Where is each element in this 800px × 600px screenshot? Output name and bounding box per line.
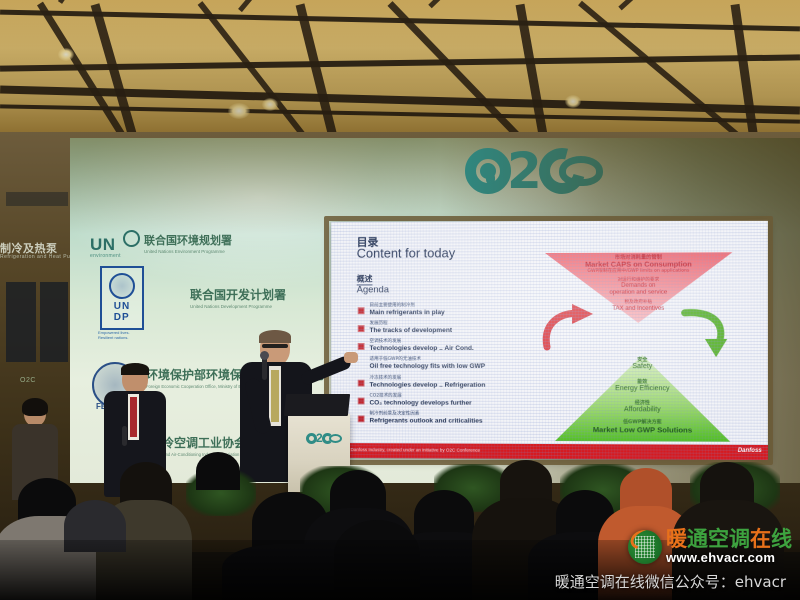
bullet-square-icon — [358, 398, 365, 405]
undp-p: P — [122, 312, 130, 323]
wm-char: 通 — [687, 527, 708, 551]
laptop — [284, 394, 350, 416]
agenda-en: CO₂ technology develops further — [369, 399, 471, 407]
undp-cn-name: 联合国开发计划署 United Nations Development Prog… — [190, 286, 286, 309]
arrow-up-red — [539, 303, 599, 356]
agenda-item: 制冷剂前景及决定性因素 Refrigerants outlook and cri… — [358, 411, 483, 425]
arrow-down-green — [675, 307, 734, 364]
microphone — [122, 426, 127, 446]
undp-seal-icon — [109, 273, 135, 299]
agenda-en: Oil free technology fits with low GWP — [369, 362, 485, 370]
agenda-en: Technologies develop .. Air Cond. — [369, 345, 473, 353]
agenda-item: CO2技术的发展 CO₂ technology develops further — [358, 394, 472, 408]
un-sub: environment — [90, 253, 140, 259]
wm-char: 暖 — [666, 527, 687, 551]
undp-tagline: Empowered lives. Resilient nations. — [98, 330, 146, 340]
bullet-square-icon — [358, 343, 365, 350]
wm-char: 线 — [771, 527, 792, 551]
bullet-square-icon — [358, 415, 365, 422]
wm-char: 在 — [750, 527, 771, 551]
slide-footer-bar: ENG | Danfoss Industry, created under an… — [331, 443, 768, 460]
undp-logo: UN DP — [100, 266, 144, 330]
photo-scene: 制冷及热泵 Refrigeration and Heat Pumps O2C 2… — [0, 0, 800, 600]
agenda-item: 发展历程 The tracks of development — [358, 321, 452, 335]
watermark-bottom-line: 暖通空调在线微信公众号：ehvacr — [555, 571, 786, 592]
un-mark: UN — [90, 235, 116, 255]
caps-line: operation and service — [545, 290, 732, 297]
agenda-item: 适用于低GWP的无油技术 Oil free technology fits wi… — [358, 357, 485, 371]
ehvacr-logo-icon — [628, 530, 662, 564]
agenda-item: 冷冻技术的发展 Technologies develop .. Refriger… — [358, 376, 486, 390]
agenda-en: The tracks of development — [369, 327, 452, 335]
undp-cn: 联合国开发计划署 — [190, 286, 286, 303]
undp-u: U — [114, 301, 122, 312]
bullet-square-icon — [358, 307, 365, 314]
agenda-en: Refrigerants outlook and criticalities — [369, 417, 482, 425]
un-environment-cn-name: 联合国环境规划署 United Nations Environment Prog… — [144, 232, 232, 254]
presentation-screen: 目录 Content for today 概述 Agenda 目前主要使用的制冷… — [331, 220, 768, 460]
pyramid-line: Affordability — [555, 406, 730, 415]
un-environment-logo: UN environment — [90, 230, 140, 259]
pyramid-line: Safety — [555, 363, 730, 372]
watermark-cn-text: 暖通空调在线 — [666, 529, 792, 550]
undp-d: D — [114, 312, 122, 323]
wm-char: 调 — [729, 527, 750, 551]
slide-footer-text: ENG | Danfoss Industry, created under an… — [337, 447, 480, 453]
microphone-head — [260, 351, 269, 360]
bullet-square-icon — [358, 325, 365, 332]
caps-line: GWP限制在应用中/GWP limits on applications — [545, 269, 732, 275]
slide-section-en: Agenda — [357, 284, 389, 295]
watermark-url: www.ehvacr.com — [666, 551, 792, 564]
undp-n: N — [122, 301, 130, 312]
podium-o2c-logo: 2 — [306, 432, 342, 444]
agenda-en: Main refrigerants in play — [369, 309, 444, 317]
slide-title-en: Content for today — [357, 245, 455, 260]
exhibition-hall-ceiling — [0, 0, 800, 138]
un-cn: 联合国环境规划署 — [144, 232, 232, 248]
pyramid-line: Market Low GWP Solutions — [555, 425, 730, 435]
wm-char: 空 — [708, 527, 729, 551]
bullet-square-icon — [358, 380, 365, 387]
un-en: United Nations Environment Programme — [144, 249, 232, 254]
site-watermark: 暖通空调在线 www.ehvacr.com — [628, 529, 792, 564]
undp-en: United Nations Development Programme — [190, 304, 286, 309]
agenda-item: 空调技术的发展 Technologies develop .. Air Cond… — [358, 339, 474, 353]
low-gwp-labels: 安全 Safety 能效 Energy Efficiency 经济性 Affor… — [555, 357, 730, 435]
danfoss-logo: Danfoss — [738, 448, 762, 454]
agenda-item: 目前主要使用的制冷剂 Main refrigerants in play — [358, 303, 445, 317]
pyramid-line: Energy Efficiency — [555, 385, 730, 394]
booth-tag: O2C — [20, 377, 36, 384]
agenda-en: Technologies develop .. Refrigeration — [369, 381, 485, 389]
